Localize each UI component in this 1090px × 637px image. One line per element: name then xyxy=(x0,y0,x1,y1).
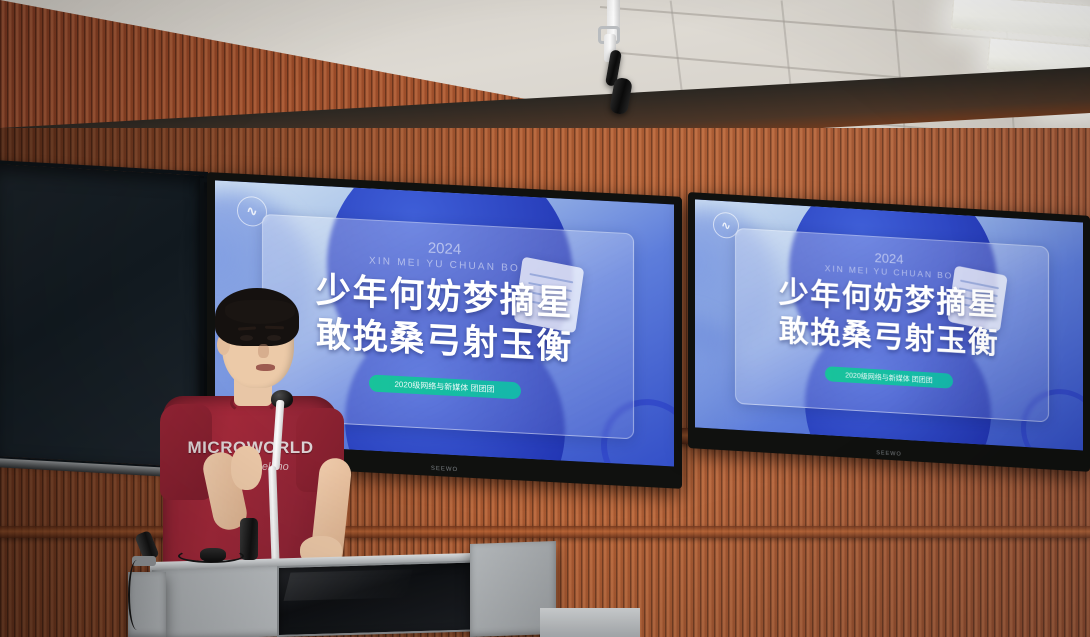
right-tv-screen[interactable]: ∿ 2024 XIN MEI YU CHUAN BO 少年何妨梦摘星 敢挽桑弓射… xyxy=(695,199,1083,450)
desk-mic-puck xyxy=(200,548,226,562)
presenter-hair-fringe xyxy=(225,300,295,324)
photo-scene: ∿ 2024 XIN MEI YU CHUAN BO 少年何妨梦摘星 敢挽桑弓射… xyxy=(0,0,1090,637)
presenter-eyebrow xyxy=(265,326,284,330)
presenter-nose xyxy=(258,344,269,358)
logo-glyph: ∿ xyxy=(721,218,730,232)
right-presentation-tv[interactable]: ∿ 2024 XIN MEI YU CHUAN BO 少年何妨梦摘星 敢挽桑弓射… xyxy=(688,192,1090,472)
presenter-mouth xyxy=(256,364,275,371)
presentation-slide: ∿ 2024 XIN MEI YU CHUAN BO 少年何妨梦摘星 敢挽桑弓射… xyxy=(695,199,1083,450)
presenter-right-hand xyxy=(231,446,262,490)
presenter-eye xyxy=(267,335,281,341)
lectern-lower-shelf xyxy=(540,608,640,637)
lectern-monitor[interactable] xyxy=(277,560,477,637)
logo-glyph: ∿ xyxy=(247,203,258,220)
ceiling-light-panel xyxy=(951,0,1090,39)
presenter-eye xyxy=(240,335,253,341)
desk-mic-cable xyxy=(128,560,146,630)
